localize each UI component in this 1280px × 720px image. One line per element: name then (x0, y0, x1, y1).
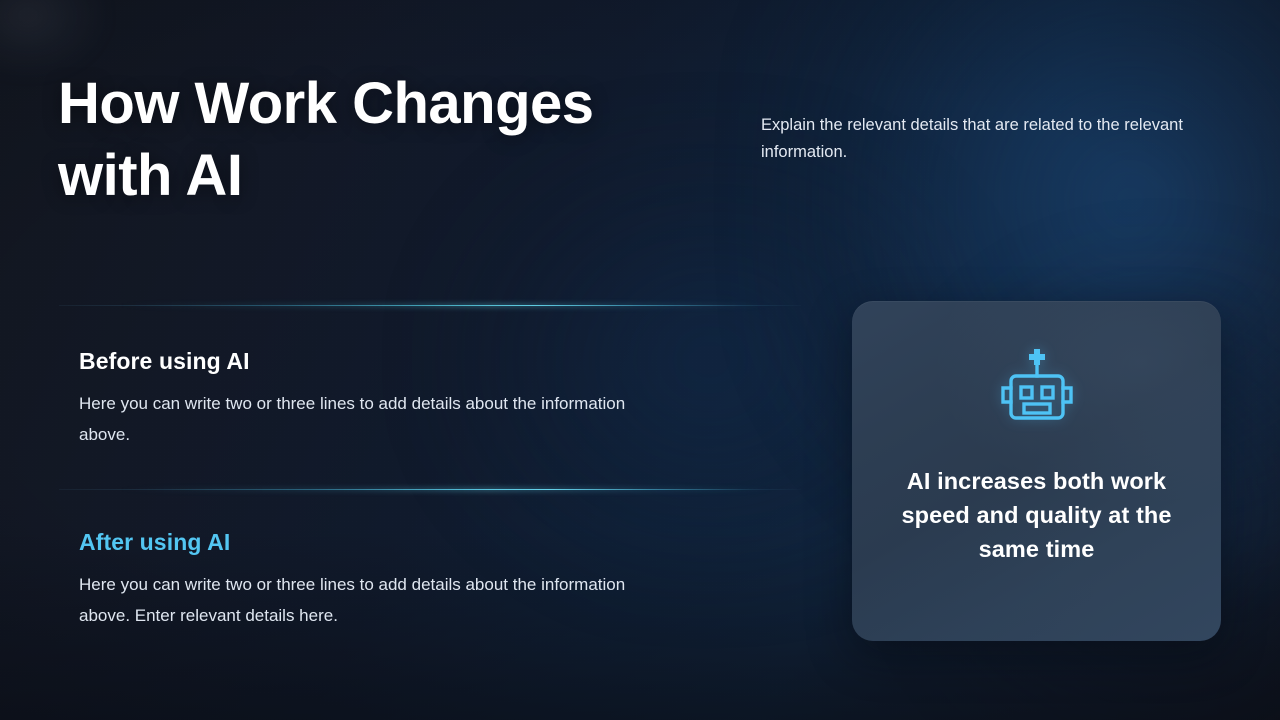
section-heading-after: After using AI (79, 526, 699, 558)
section-before-using-ai: Before using AI Here you can write two o… (79, 345, 699, 450)
slide-canvas: How Work Changes with AI Explain the rel… (0, 0, 1280, 720)
section-after-using-ai: After using AI Here you can write two or… (79, 526, 699, 631)
page-subtitle: Explain the relevant details that are re… (761, 112, 1207, 166)
card-headline: AI increases both work speed and quality… (886, 464, 1188, 566)
divider-middle (59, 489, 801, 490)
robot-head-icon (994, 345, 1080, 427)
section-body-after: Here you can write two or three lines to… (79, 569, 679, 631)
divider-top (59, 305, 801, 306)
highlight-card: AI increases both work speed and quality… (852, 301, 1221, 641)
page-title: How Work Changes with AI (58, 68, 698, 212)
section-body-before: Here you can write two or three lines to… (79, 388, 679, 450)
section-heading-before: Before using AI (79, 345, 699, 377)
